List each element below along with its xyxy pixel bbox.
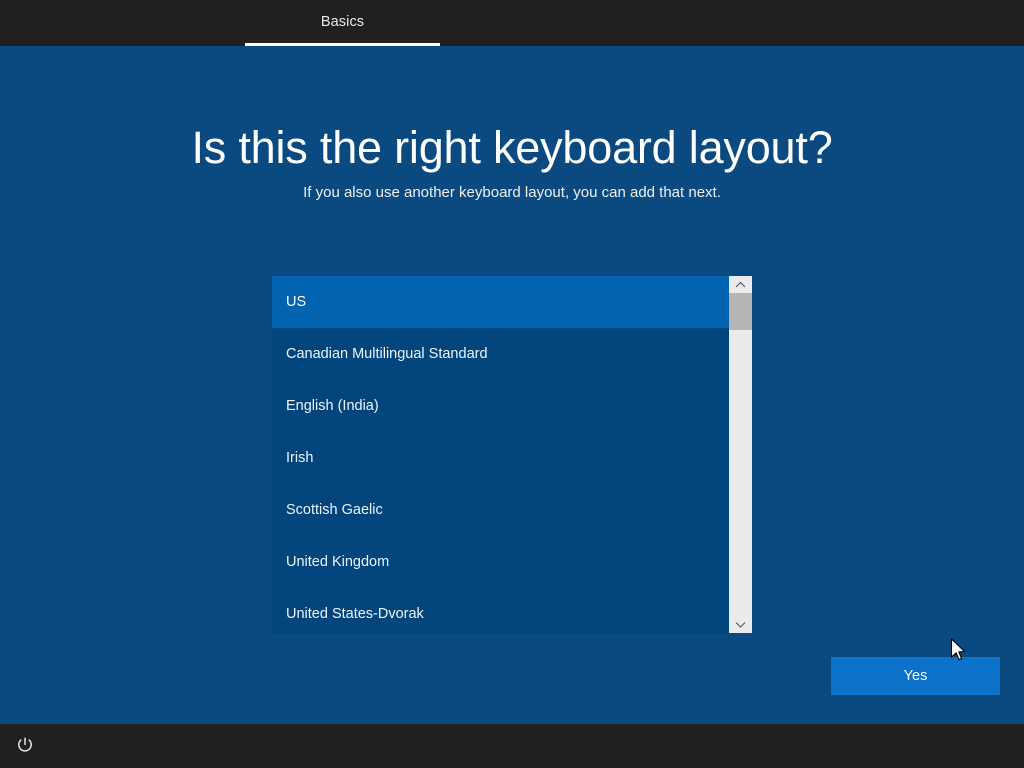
list-item[interactable]: Canadian Multilingual Standard <box>272 328 729 380</box>
top-chrome-bar: Basics <box>0 0 1024 46</box>
list-scrollbar[interactable] <box>729 276 752 633</box>
oobe-screen: Basics Is this the right keyboard layout… <box>0 0 1024 768</box>
tab-basics-label: Basics <box>321 14 364 30</box>
list-item-label: English (India) <box>286 398 379 414</box>
bottom-chrome-bar <box>0 724 1024 768</box>
list-item-label: Irish <box>286 450 313 466</box>
list-item[interactable]: US <box>272 276 729 328</box>
page-subtitle: If you also use another keyboard layout,… <box>0 184 1024 201</box>
list-item-label: US <box>286 294 306 310</box>
list-item-label: United States-Dvorak <box>286 606 424 622</box>
list-item[interactable]: Scottish Gaelic <box>272 484 729 536</box>
yes-button[interactable]: Yes <box>831 657 1000 695</box>
list-item-label: Scottish Gaelic <box>286 502 383 518</box>
list-item-label: United Kingdom <box>286 554 389 570</box>
chevron-up-icon[interactable] <box>729 276 752 293</box>
list-item[interactable]: English (India) <box>272 380 729 432</box>
keyboard-layout-listbox[interactable]: US Canadian Multilingual Standard Englis… <box>272 276 752 633</box>
list-item[interactable]: United Kingdom <box>272 536 729 588</box>
chevron-down-icon[interactable] <box>729 616 752 633</box>
tab-basics[interactable]: Basics <box>245 0 440 46</box>
tab-strip: Basics <box>0 0 1024 46</box>
list-item[interactable]: Irish <box>272 432 729 484</box>
list-item[interactable]: United States-Dvorak <box>272 588 729 633</box>
list-item-label: Canadian Multilingual Standard <box>286 346 488 362</box>
keyboard-layout-list: US Canadian Multilingual Standard Englis… <box>272 276 729 633</box>
scrollbar-thumb[interactable] <box>729 293 752 330</box>
power-icon[interactable] <box>11 731 39 759</box>
page-title: Is this the right keyboard layout? <box>0 122 1024 174</box>
main-content: Is this the right keyboard layout? If yo… <box>0 46 1024 724</box>
